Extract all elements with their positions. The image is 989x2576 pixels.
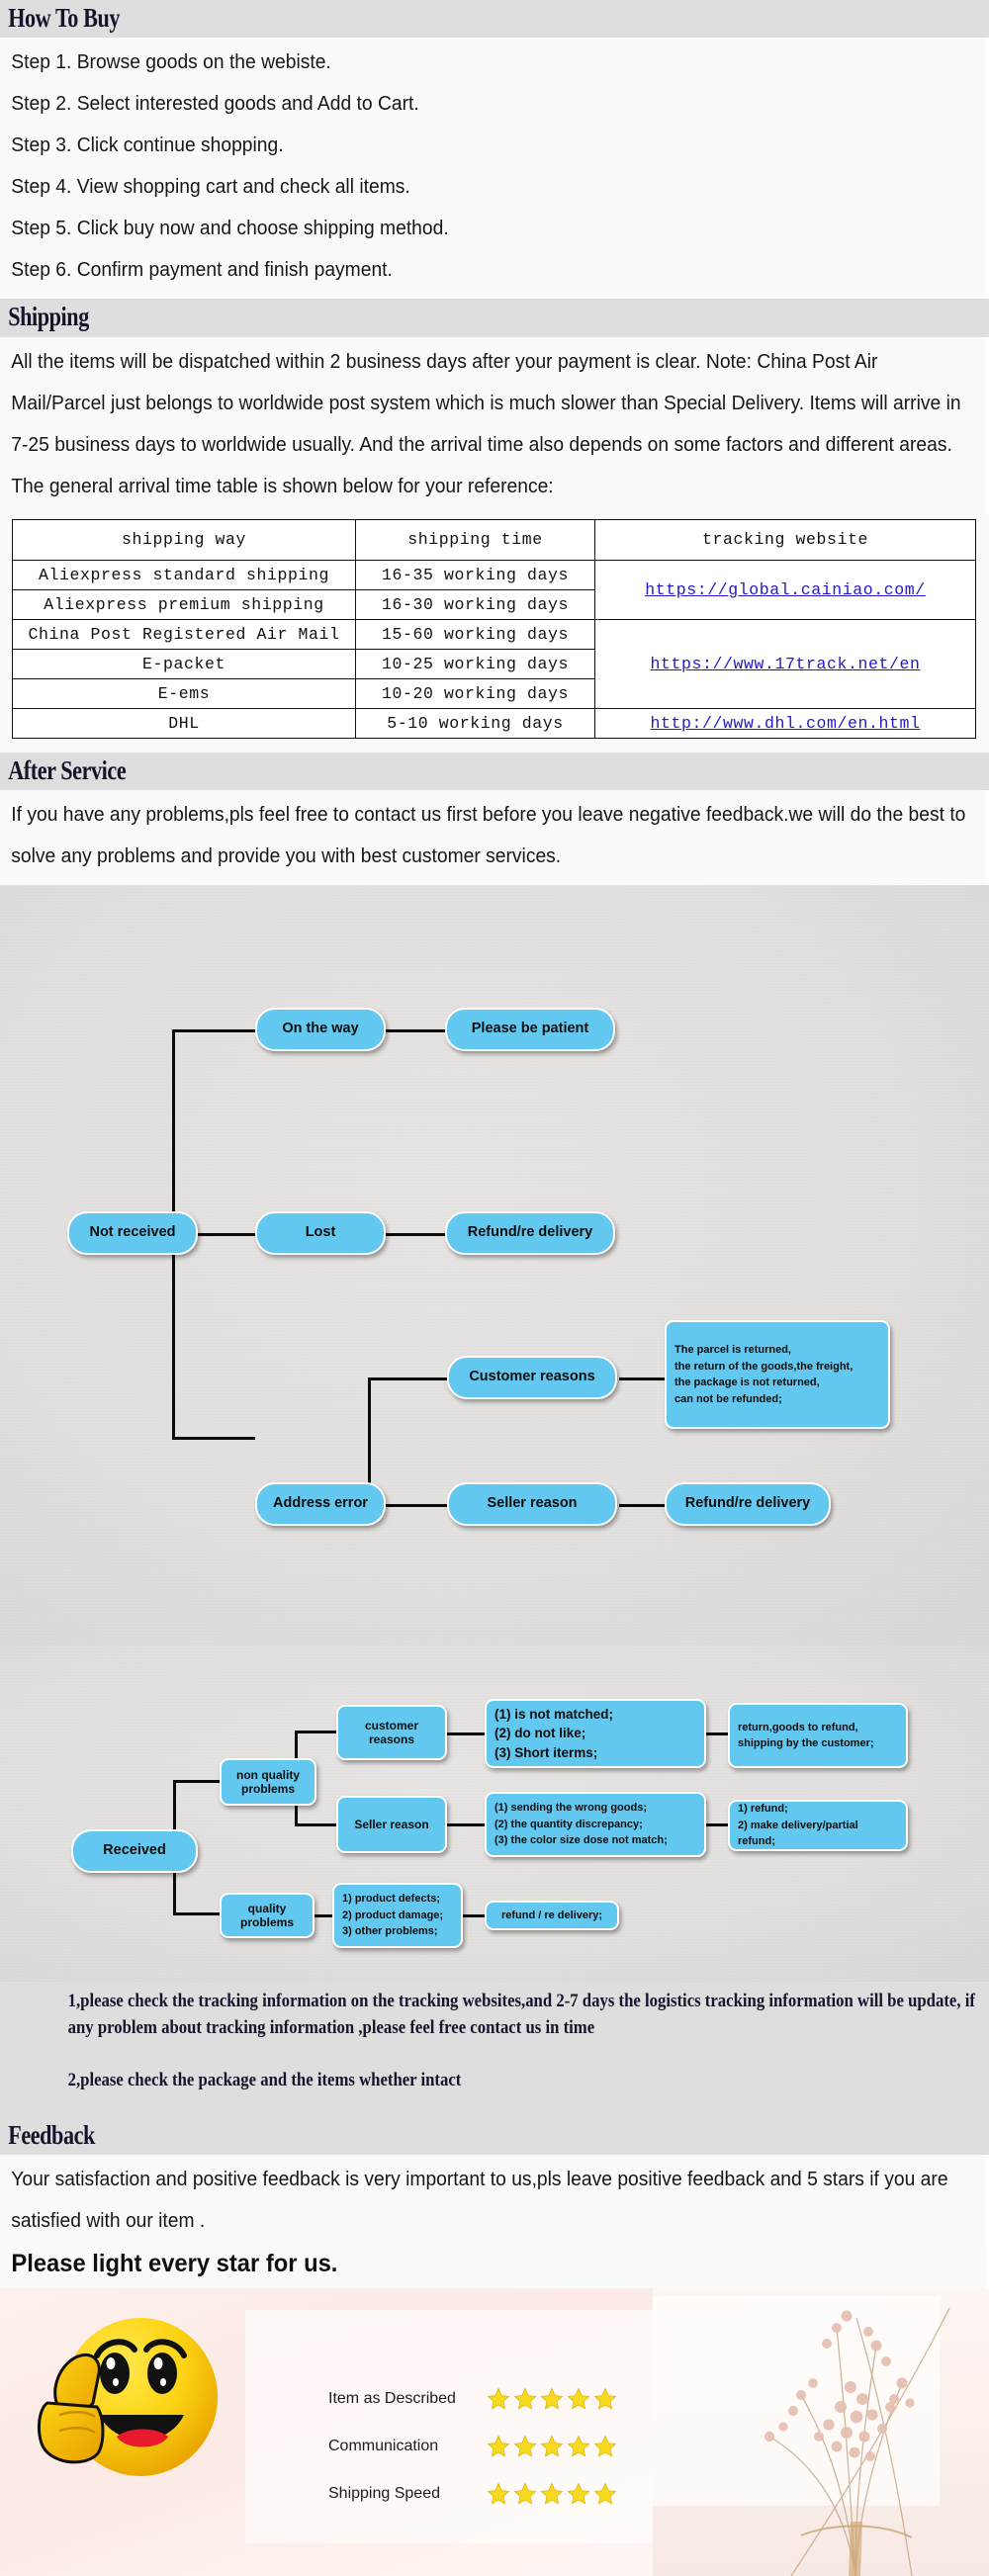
product-description-page: How To Buy Step 1. Browse goods on the w… [0,0,989,2576]
flow-connector [172,1437,255,1440]
rating-label-communication: Communication [328,2438,487,2455]
rating-row: Shipping Speed [328,2470,617,2518]
after-service-flowchart: Not received On the way Please be patien… [0,885,989,1646]
flow-connector [463,1914,485,1917]
star-icon[interactable] [540,2435,564,2458]
table-row: DHL 5-10 working days http://www.dhl.com… [13,708,976,738]
table-header-row: shipping way shipping time tracking webs… [13,519,976,560]
section-title-feedback: Feedback [0,2117,989,2155]
how-to-buy-header: How To Buy [0,0,989,38]
cell-shipping-time: 10-25 working days [356,649,595,678]
star-icon[interactable] [513,2387,537,2411]
star-icon[interactable] [513,2482,537,2506]
rating-row: Communication [328,2423,617,2470]
feedback-header: Feedback [0,2117,989,2155]
cell-shipping-way: E-ems [13,678,356,708]
flow-node-customer-reasons-not-received[interactable]: Customer reasons [447,1356,617,1399]
cell-shipping-time: 16-30 working days [356,589,595,619]
star-icon[interactable] [567,2482,590,2506]
smiley-thumbs-up-icon [20,2300,237,2547]
star-icon[interactable] [593,2482,617,2506]
tracking-note-1: 1,please check the tracking information … [0,1988,983,2041]
flow-node-seller-outcome[interactable]: 1) refund; 2) make delivery/partial refu… [728,1800,908,1851]
tracking-note-2: 2,please check the package and the items… [0,2067,983,2093]
star-rating-shipping-speed[interactable] [487,2482,617,2506]
column-header-shipping-time: shipping time [356,519,595,560]
step-item: Step 1. Browse goods on the webiste. [11,42,974,83]
how-to-buy-steps: Step 1. Browse goods on the webiste. Ste… [0,38,985,299]
cell-shipping-way: Aliexpress standard shipping [13,560,356,589]
flow-node-address-error[interactable]: Address error [255,1482,386,1526]
step-item: Step 2. Select interested goods and Add … [11,83,974,125]
flow-node-quality-list[interactable]: 1) product defects; 2) product damage; 3… [332,1883,463,1948]
star-icon[interactable] [593,2435,617,2458]
flow-node-seller-reason-list[interactable]: (1) sending the wrong goods; (2) the qua… [485,1792,706,1857]
star-rating-communication[interactable] [487,2435,617,2458]
flow-node-not-received[interactable]: Not received [67,1211,198,1255]
flow-node-received[interactable]: Received [71,1829,198,1873]
tracking-link-cainiao[interactable]: https://global.cainiao.com/ [645,580,926,599]
dried-flowers-image [653,2288,989,2576]
star-icon[interactable] [487,2482,510,2506]
rating-label-shipping-speed: Shipping Speed [328,2485,487,2503]
flow-connector [295,1731,338,1733]
flow-connector [384,1233,445,1236]
feedback-paragraph: Your satisfaction and positive feedback … [0,2155,985,2250]
flow-node-customer-reason-list[interactable]: (1) is not matched; (2) do not like; (3)… [485,1699,706,1768]
flow-connector [295,1823,338,1826]
rating-banner: Item as Described Communication [0,2288,989,2576]
flow-connector [315,1914,332,1917]
step-item: Step 3. Click continue shopping. [11,125,974,166]
star-icon[interactable] [487,2387,510,2411]
rating-rows: Item as Described Communication [328,2375,617,2518]
section-title-shipping: Shipping [0,299,989,336]
flow-node-refund-re-delivery-seller[interactable]: Refund/re delivery [665,1482,831,1526]
star-icon[interactable] [540,2387,564,2411]
flow-node-parcel-returned-note[interactable]: The parcel is returned, the return of th… [665,1320,890,1429]
star-icon[interactable] [593,2387,617,2411]
flow-node-non-quality-problems[interactable]: non quality problems [220,1758,316,1806]
rating-row: Item as Described [328,2375,617,2423]
flow-node-lost[interactable]: Lost [255,1211,386,1255]
flow-connector [447,1823,485,1826]
flow-connector [384,1029,445,1032]
flow-node-seller-reason-address-error[interactable]: Seller reason [447,1482,617,1526]
shipping-table-wrapper: shipping way shipping time tracking webs… [0,515,989,753]
cell-shipping-way: DHL [13,708,356,738]
flow-connector [706,1823,728,1826]
flow-node-seller-reason-received[interactable]: Seller reason [336,1796,447,1853]
cell-shipping-way: China Post Registered Air Mail [13,619,356,649]
rating-label-item-as-described: Item as Described [328,2390,487,2408]
step-item: Step 6. Confirm payment and finish payme… [11,249,974,291]
star-rating-item-as-described[interactable] [487,2387,617,2411]
flow-node-quality-outcome[interactable]: refund / re delivery; [485,1901,619,1930]
tracking-link-17track[interactable]: https://www.17track.net/en [650,655,920,673]
feedback-highlight: Please light every star for us. [0,2250,987,2288]
column-header-tracking-website: tracking website [595,519,976,560]
shipping-header: Shipping [0,299,989,336]
tracking-link-dhl[interactable]: http://www.dhl.com/en.html [650,714,920,733]
flow-connector [368,1377,449,1380]
column-header-shipping-way: shipping way [13,519,356,560]
shipping-table: shipping way shipping time tracking webs… [12,519,976,739]
table-row: Aliexpress standard shipping 16-35 worki… [13,560,976,589]
table-row: China Post Registered Air Mail 15-60 wor… [13,619,976,649]
after-service-paragraph: If you have any problems,pls feel free t… [0,790,985,885]
cell-shipping-time: 10-20 working days [356,678,595,708]
star-icon[interactable] [567,2435,590,2458]
shipping-paragraph: All the items will be dispatched within … [0,337,985,515]
flow-connector [173,1912,221,1915]
cell-shipping-way: E-packet [13,649,356,678]
flow-connector [447,1732,485,1735]
step-item: Step 5. Click buy now and choose shippin… [11,208,974,249]
flow-node-refund-re-delivery-lost[interactable]: Refund/re delivery [445,1211,615,1255]
tracking-notes: 1,please check the tracking information … [0,1982,989,2117]
section-title-after-service: After Service [0,753,989,790]
flow-connector [173,1780,221,1783]
cell-shipping-time: 15-60 working days [356,619,595,649]
cell-shipping-time: 5-10 working days [356,708,595,738]
star-icon[interactable] [540,2482,564,2506]
flow-connector [619,1504,665,1507]
section-title-how-to-buy: How To Buy [0,0,989,38]
flow-connector [619,1377,665,1380]
step-item: Step 4. View shopping cart and check all… [11,166,974,208]
star-icon[interactable] [567,2387,590,2411]
star-icon[interactable] [487,2435,510,2458]
flow-node-quality-problems[interactable]: quality problems [220,1893,315,1938]
flow-connector [172,1029,255,1032]
cell-tracking-website: https://global.cainiao.com/ [595,560,976,619]
received-flowchart: Received non quality problems customer r… [0,1645,989,1982]
flow-node-on-the-way[interactable]: On the way [255,1008,386,1051]
flow-node-customer-outcome[interactable]: return,goods to refund, shipping by the … [728,1703,908,1768]
star-icon[interactable] [513,2435,537,2458]
flow-connector [706,1732,728,1735]
flow-node-customer-reasons-received[interactable]: customer reasons [336,1705,447,1760]
cell-tracking-website: http://www.dhl.com/en.html [595,708,976,738]
cell-shipping-time: 16-35 working days [356,560,595,589]
flow-connector [197,1233,258,1236]
flow-node-please-be-patient[interactable]: Please be patient [445,1008,615,1051]
cell-shipping-way: Aliexpress premium shipping [13,589,356,619]
after-service-header: After Service [0,753,989,790]
cell-tracking-website: https://www.17track.net/en [595,619,976,708]
